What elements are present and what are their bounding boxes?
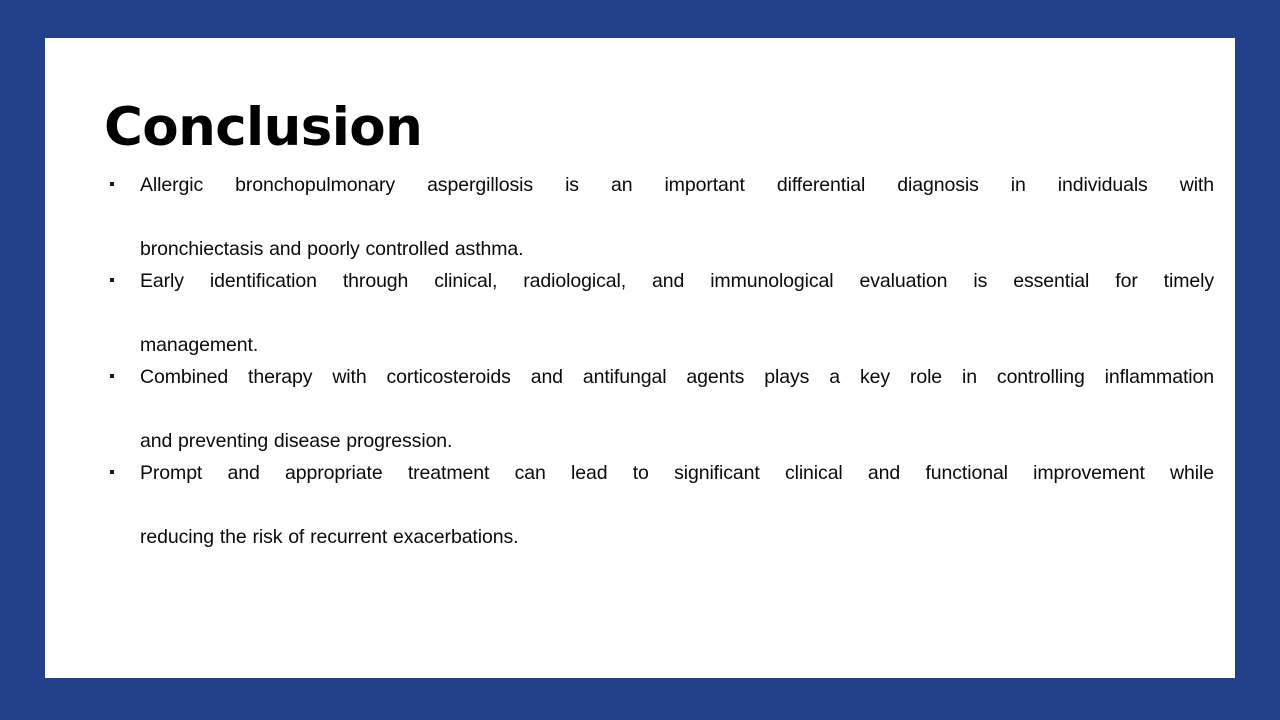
list-item-text-line-2: and preventing disease progression. <box>140 425 1214 457</box>
list-item-text-line-1: Early identification through clinical, r… <box>140 265 1214 329</box>
list-item-text-line-1: Prompt and appropriate treatment can lea… <box>140 457 1214 521</box>
list-item: Combined therapy with corticosteroids an… <box>104 361 1214 457</box>
list-item: Allergic bronchopulmonary aspergillosis … <box>104 169 1214 265</box>
list-item-text-line-1: Allergic bronchopulmonary aspergillosis … <box>140 169 1214 233</box>
list-item-text-line-2: management. <box>140 329 1214 361</box>
conclusion-bullet-list: Allergic bronchopulmonary aspergillosis … <box>104 169 1214 553</box>
list-item-text-line-1: Combined therapy with corticosteroids an… <box>140 361 1214 425</box>
list-item: Early identification through clinical, r… <box>104 265 1214 361</box>
list-item-text-line-2: bronchiectasis and poorly controlled ast… <box>140 233 1214 265</box>
slide-background: Conclusion Allergic bronchopulmonary asp… <box>0 0 1280 720</box>
list-item: Prompt and appropriate treatment can lea… <box>104 457 1214 553</box>
slide-content-card: Conclusion Allergic bronchopulmonary asp… <box>45 38 1235 678</box>
list-item-text-line-2: reducing the risk of recurrent exacerbat… <box>140 521 1214 553</box>
page-title: Conclusion <box>104 100 422 156</box>
